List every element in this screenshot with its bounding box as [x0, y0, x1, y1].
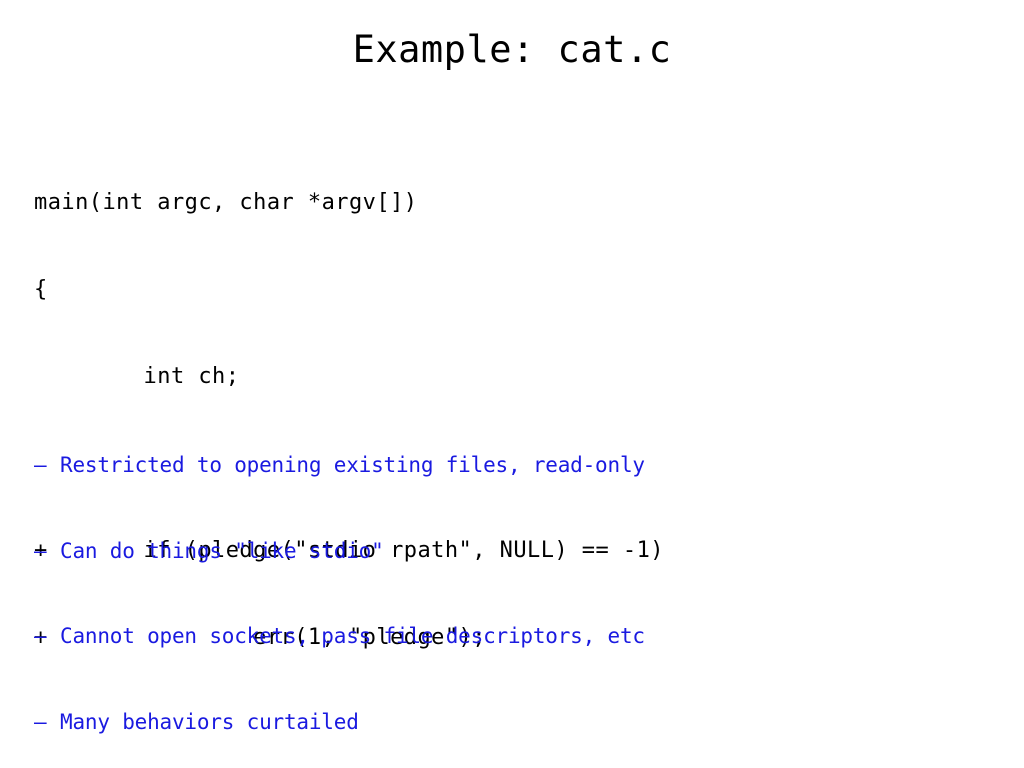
list-item-label: Many behaviors curtailed	[60, 710, 359, 734]
slide-canvas: Example: cat.c main(int argc, char *argv…	[0, 0, 1024, 768]
bullet-dash-icon: –	[34, 708, 60, 737]
list-item-label: Can do things "like stdio"	[60, 539, 384, 563]
bullet-dash-icon: –	[34, 451, 60, 480]
bullet-list: –Restricted to opening existing files, r…	[34, 394, 974, 768]
code-line: main(int argc, char *argv[])	[34, 188, 974, 217]
list-item: –Can do things "like stdio"	[34, 537, 974, 566]
list-item: –Cannot open sockets, pass file descript…	[34, 622, 974, 651]
code-line: {	[34, 275, 974, 304]
list-item: –Many behaviors curtailed	[34, 708, 974, 737]
code-line: int ch;	[34, 362, 974, 391]
list-item-label: Cannot open sockets, pass file descripto…	[60, 624, 645, 648]
bullet-dash-icon: –	[34, 537, 60, 566]
list-item-label: Restricted to opening existing files, re…	[60, 453, 645, 477]
page-title: Example: cat.c	[0, 27, 1024, 73]
list-item: –Restricted to opening existing files, r…	[34, 451, 974, 480]
bullet-dash-icon: –	[34, 622, 60, 651]
